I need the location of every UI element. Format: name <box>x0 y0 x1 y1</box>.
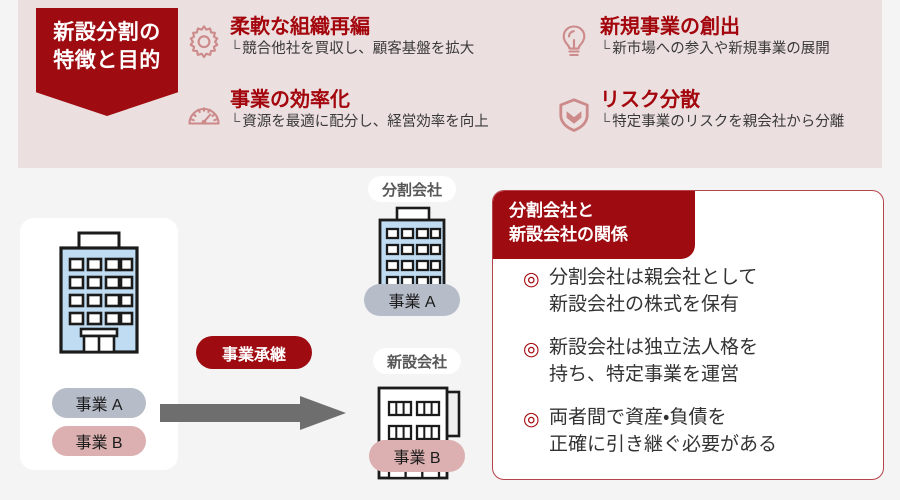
relation-item-line: 新設会社の株式を保有 <box>549 292 757 319</box>
feature-subtitle-text: 資源を最適に配分し、経営効率を向上 <box>242 114 489 130</box>
relation-item-line: 両者間で資産・負債を <box>549 405 777 432</box>
original-company-card: 事業 A 事業 B <box>20 218 178 470</box>
feature-item-flexible-reorg: 柔軟な組織再編 └競合他社を買収し、顧客基盤を拡大 <box>178 14 548 87</box>
elbow-glyph: └ <box>230 41 240 57</box>
relation-item-list: ◎ 分割会社は親会社として 新設会社の株式を保有 ◎ 新設会社は独立法人格を 持… <box>493 265 884 459</box>
relation-item-text: 分割会社は親会社として 新設会社の株式を保有 <box>549 265 757 319</box>
feature-text: 新規事業の創出 └新市場への参入や新規事業の展開 <box>596 14 900 60</box>
lightbulb-icon <box>552 20 596 64</box>
relation-item-line: 正確に引き継ぐ必要がある <box>549 432 777 459</box>
original-business-pills: 事業 A 事業 B <box>52 388 146 456</box>
new-company-label: 新設会社 <box>373 348 461 374</box>
feature-title: 事業の効率化 <box>230 89 350 111</box>
feature-text: 事業の効率化 └資源を最適に配分し、経営効率を向上 <box>226 87 548 133</box>
header-badge-line-2: 特徴と目的 <box>53 47 161 75</box>
header-badge-line-1: 新設分割の <box>53 19 161 47</box>
office-building-blue-icon <box>47 230 151 363</box>
feature-text: リスク分散 └特定事業のリスクを親会社から分離 <box>596 87 900 133</box>
bullet-icon: ◎ <box>523 406 549 435</box>
elbow-glyph: └ <box>600 41 610 57</box>
transfer-arrow-icon <box>160 396 346 430</box>
split-company-node: 分割会社 事業 A <box>352 176 472 326</box>
relation-header-line-2: 新設会社の関係 <box>509 225 628 244</box>
infographic-canvas: 新設分割の 特徴と目的 柔軟な組織再編 └競合他社を買収し、顧客基盤を拡大 <box>0 0 900 500</box>
feature-title: 新規事業の創出 <box>600 16 740 38</box>
shield-icon <box>552 93 596 137</box>
relation-item-text: 両者間で資産・負債を 正確に引き継ぐ必要がある <box>549 405 777 459</box>
feature-subtitle: └資源を最適に配分し、経営効率を向上 <box>230 114 489 130</box>
bullet-icon: ◎ <box>523 266 549 295</box>
feature-subtitle: └新市場への参入や新規事業の展開 <box>600 41 830 57</box>
feature-item-new-business: 新規事業の創出 └新市場への参入や新規事業の展開 <box>548 14 900 87</box>
relation-panel-header: 分割会社と 新設会社の関係 <box>493 191 695 259</box>
feature-title: 柔軟な組織再編 <box>230 16 370 38</box>
business-pill-b: 事業 B <box>52 426 146 456</box>
gear-icon <box>182 20 226 64</box>
new-company-node: 新設会社 <box>352 348 482 488</box>
relation-item: ◎ 新設会社は独立法人格を 持ち、特定事業を運営 <box>523 335 869 389</box>
feature-item-efficiency: 事業の効率化 └資源を最適に配分し、経営効率を向上 <box>178 87 548 160</box>
feature-subtitle-text: 特定事業のリスクを親会社から分離 <box>612 114 844 130</box>
relation-item-line: 新設会社は独立法人格を <box>549 335 758 362</box>
feature-grid: 柔軟な組織再編 └競合他社を買収し、顧客基盤を拡大 新規事業の創出 └新市場 <box>178 14 900 160</box>
feature-title: リスク分散 <box>600 89 700 111</box>
feature-subtitle: └競合他社を買収し、顧客基盤を拡大 <box>230 41 474 57</box>
relation-header-line-1: 分割会社と <box>509 201 594 220</box>
split-company-business-pill: 事業 A <box>364 284 460 316</box>
relation-item-line: 分割会社は親会社として <box>549 265 757 292</box>
transfer-label-pill: 事業承継 <box>196 336 312 369</box>
business-pill-a: 事業 A <box>52 388 146 418</box>
new-company-business-pill: 事業 B <box>369 440 465 472</box>
relation-item-text: 新設会社は独立法人格を 持ち、特定事業を運営 <box>549 335 758 389</box>
relation-item-line: 持ち、特定事業を運営 <box>549 362 758 389</box>
header-band: 新設分割の 特徴と目的 柔軟な組織再編 └競合他社を買収し、顧客基盤を拡大 <box>18 0 882 168</box>
feature-text: 柔軟な組織再編 └競合他社を買収し、顧客基盤を拡大 <box>226 14 548 60</box>
elbow-glyph: └ <box>600 114 610 130</box>
bullet-icon: ◎ <box>523 336 549 365</box>
feature-subtitle: └特定事業のリスクを親会社から分離 <box>600 114 844 130</box>
feature-subtitle-text: 競合他社を買収し、顧客基盤を拡大 <box>242 41 474 57</box>
header-badge: 新設分割の 特徴と目的 <box>36 8 178 116</box>
relation-panel: 分割会社と 新設会社の関係 ◎ 分割会社は親会社として 新設会社の株式を保有 ◎… <box>492 190 884 480</box>
relation-item: ◎ 分割会社は親会社として 新設会社の株式を保有 <box>523 265 869 319</box>
feature-item-risk-spread: リスク分散 └特定事業のリスクを親会社から分離 <box>548 87 900 160</box>
gauge-icon <box>182 93 226 137</box>
split-company-label: 分割会社 <box>368 176 456 202</box>
relation-item: ◎ 両者間で資産・負債を 正確に引き継ぐ必要がある <box>523 405 869 459</box>
elbow-glyph: └ <box>230 114 240 130</box>
feature-subtitle-text: 新市場への参入や新規事業の展開 <box>612 41 830 57</box>
